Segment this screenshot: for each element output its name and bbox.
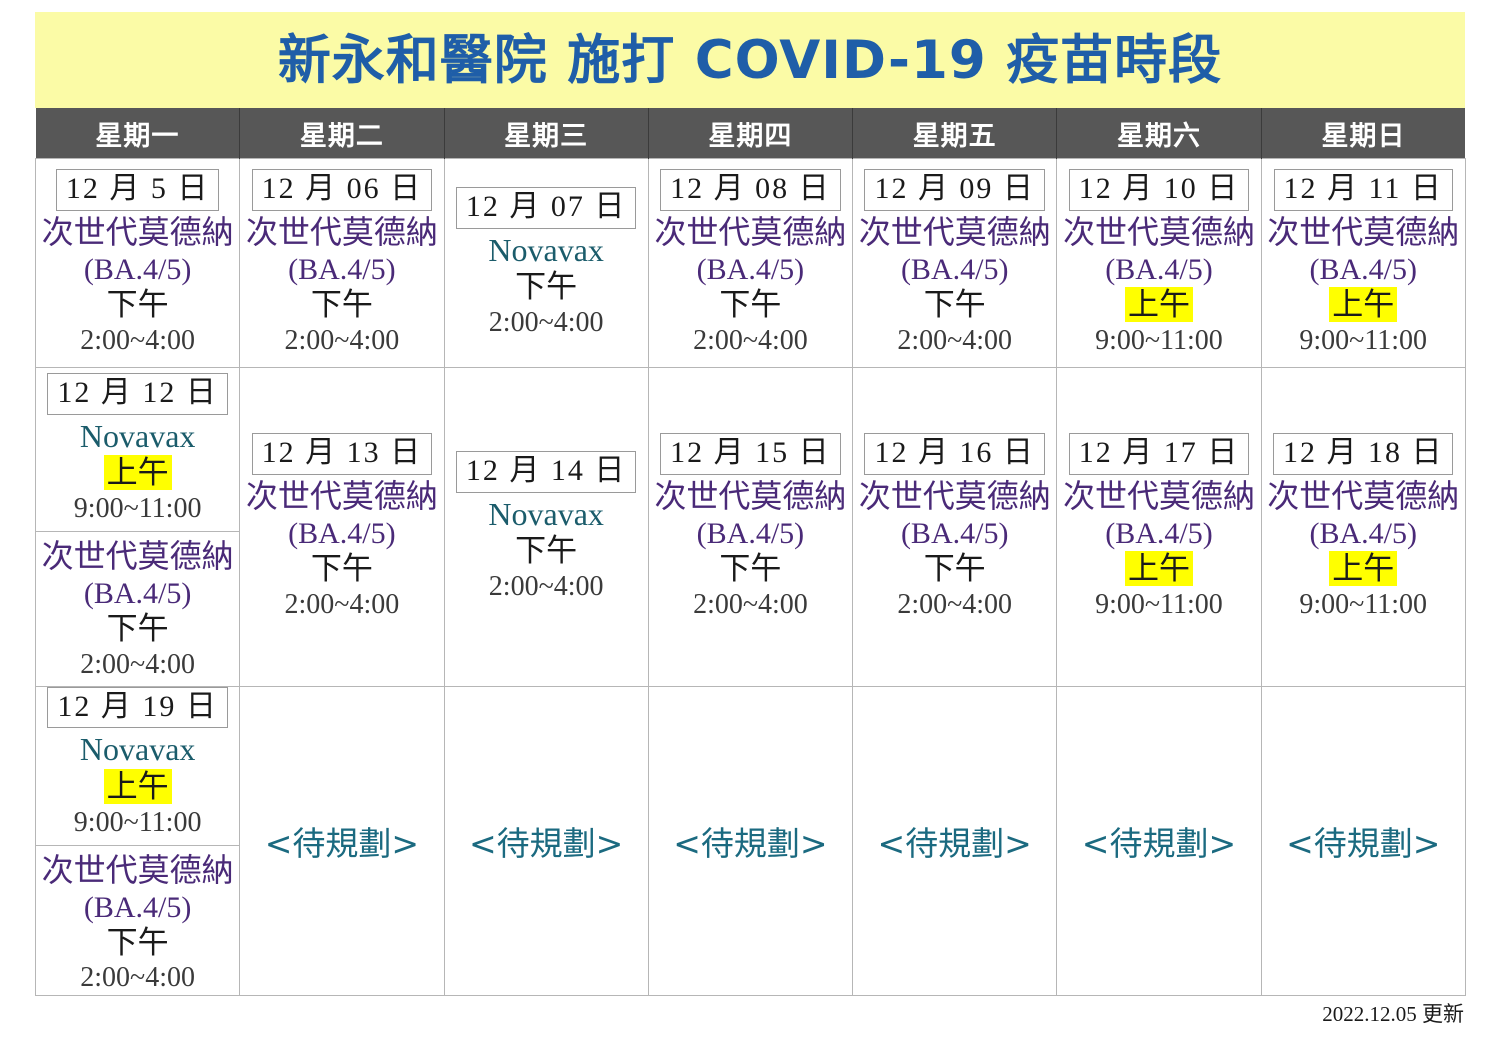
weekday-header-tuesday: 星期二: [240, 108, 444, 159]
schedule-entry: 12 月 18 日次世代莫德納(BA.4/5)上午9:00~11:00: [1262, 433, 1465, 620]
cell-content: 12 月 13 日次世代莫德納(BA.4/5)下午2:00~4:00: [240, 368, 443, 686]
schedule-cell-thursday: 12 月 15 日次世代莫德納(BA.4/5)下午2:00~4:00: [648, 368, 852, 687]
date-badge: 12 月 09 日: [864, 169, 1045, 210]
weekday-header-monday: 星期一: [36, 108, 240, 159]
schedule-cell-thursday: 12 月 08 日次世代莫德納(BA.4/5)下午2:00~4:00: [648, 159, 852, 368]
vaccination-schedule-page: 新永和醫院 施打 COVID-19 疫苗時段 星期一 星期二 星期三 星期四 星…: [0, 0, 1500, 1060]
vaccine-name: 次世代莫德納: [42, 852, 234, 890]
vaccine-name: 次世代莫德納: [246, 478, 438, 516]
schedule-cell-tuesday: 12 月 13 日次世代莫德納(BA.4/5)下午2:00~4:00: [240, 368, 444, 687]
last-updated-note: 2022.12.05 更新: [1322, 998, 1464, 1028]
time-range: 2:00~4:00: [897, 588, 1012, 621]
vaccine-variant: (BA.4/5): [1105, 252, 1213, 287]
period-label: 下午: [924, 551, 986, 586]
schedule-cell-tuesday: 12 月 06 日次世代莫德納(BA.4/5)下午2:00~4:00: [240, 159, 444, 368]
period-label: 下午: [719, 551, 781, 586]
schedule-entry: 12 月 19 日Novavax上午9:00~11:00: [36, 687, 239, 846]
period-label: 下午: [719, 287, 781, 322]
date-badge: 12 月 5 日: [56, 169, 220, 210]
schedule-cell-saturday: <待規劃>: [1057, 687, 1261, 996]
schedule-entry: 12 月 08 日次世代莫德納(BA.4/5)下午2:00~4:00: [649, 169, 852, 356]
cell-content: 12 月 17 日次世代莫德納(BA.4/5)上午9:00~11:00: [1057, 368, 1260, 686]
schedule-entry: 12 月 11 日次世代莫德納(BA.4/5)上午9:00~11:00: [1262, 169, 1465, 356]
time-range: 2:00~4:00: [489, 570, 604, 603]
cell-content: 12 月 18 日次世代莫德納(BA.4/5)上午9:00~11:00: [1262, 368, 1465, 686]
date-badge: 12 月 14 日: [456, 451, 637, 492]
period-label: 下午: [311, 551, 373, 586]
date-badge: 12 月 11 日: [1274, 169, 1453, 210]
vaccine-variant: (BA.4/5): [84, 252, 192, 287]
cell-content: 12 月 5 日次世代莫德納(BA.4/5)下午2:00~4:00: [36, 159, 239, 367]
schedule-entry: 次世代莫德納(BA.4/5)下午2:00~4:00: [36, 846, 239, 995]
schedule-cell-sunday: 12 月 11 日次世代莫德納(BA.4/5)上午9:00~11:00: [1261, 159, 1465, 368]
table-body: 12 月 5 日次世代莫德納(BA.4/5)下午2:00~4:0012 月 06…: [36, 159, 1466, 996]
schedule-cell-wednesday: 12 月 14 日Novavax下午2:00~4:00: [444, 368, 648, 687]
cell-content: 12 月 19 日Novavax上午9:00~11:00次世代莫德納(BA.4/…: [36, 687, 239, 995]
time-range: 9:00~11:00: [1095, 588, 1223, 621]
cell-content: 12 月 09 日次世代莫德納(BA.4/5)下午2:00~4:00: [853, 159, 1056, 367]
time-range: 9:00~11:00: [1299, 324, 1427, 357]
vaccine-variant: (BA.4/5): [901, 252, 1009, 287]
title-banner: 新永和醫院 施打 COVID-19 疫苗時段: [35, 12, 1465, 108]
schedule-entry: 次世代莫德納(BA.4/5)下午2:00~4:00: [36, 532, 239, 681]
cell-content: 12 月 16 日次世代莫德納(BA.4/5)下午2:00~4:00: [853, 368, 1056, 686]
schedule-entry: 12 月 07 日Novavax下午2:00~4:00: [445, 187, 648, 339]
tbd-label: <待規劃>: [1057, 817, 1260, 865]
time-range: 2:00~4:00: [897, 324, 1012, 357]
vaccine-name: 次世代莫德納: [1063, 214, 1255, 252]
tbd-label: <待規劃>: [853, 817, 1056, 865]
schedule-cell-friday: 12 月 16 日次世代莫德納(BA.4/5)下午2:00~4:00: [853, 368, 1057, 687]
cell-content: 12 月 12 日Novavax上午9:00~11:00次世代莫德納(BA.4/…: [36, 368, 239, 686]
tbd-label: <待規劃>: [649, 817, 852, 865]
vaccination-schedule-table: 星期一 星期二 星期三 星期四 星期五 星期六 星期日 12 月 5 日次世代莫…: [35, 108, 1466, 996]
vaccine-variant: (BA.4/5): [84, 576, 192, 611]
vaccine-name: Novavax: [488, 232, 604, 270]
schedule-entry: 12 月 5 日次世代莫德納(BA.4/5)下午2:00~4:00: [36, 169, 239, 356]
tbd-label: <待規劃>: [445, 817, 648, 865]
schedule-entry: 12 月 16 日次世代莫德納(BA.4/5)下午2:00~4:00: [853, 433, 1056, 620]
schedule-entry: 12 月 09 日次世代莫德納(BA.4/5)下午2:00~4:00: [853, 169, 1056, 356]
time-range: 2:00~4:00: [285, 324, 400, 357]
time-range: 2:00~4:00: [80, 324, 195, 357]
vaccine-name: 次世代莫德納: [859, 478, 1051, 516]
period-label-highlighted: 上午: [1329, 287, 1397, 322]
schedule-cell-monday: 12 月 19 日Novavax上午9:00~11:00次世代莫德納(BA.4/…: [36, 687, 240, 996]
vaccine-name: 次世代莫德納: [654, 478, 846, 516]
vaccine-name: 次世代莫德納: [246, 214, 438, 252]
schedule-entry: 12 月 06 日次世代莫德納(BA.4/5)下午2:00~4:00: [240, 169, 443, 356]
period-label: 下午: [107, 287, 169, 322]
schedule-cell-wednesday: <待規劃>: [444, 687, 648, 996]
period-label-highlighted: 上午: [1329, 551, 1397, 586]
schedule-cell-monday: 12 月 12 日Novavax上午9:00~11:00次世代莫德納(BA.4/…: [36, 368, 240, 687]
period-label-highlighted: 上午: [104, 769, 172, 804]
schedule-entry: 12 月 15 日次世代莫德納(BA.4/5)下午2:00~4:00: [649, 433, 852, 620]
date-badge: 12 月 15 日: [660, 433, 841, 474]
period-label-highlighted: 上午: [1125, 287, 1193, 322]
vaccine-variant: (BA.4/5): [697, 252, 805, 287]
week-row: 12 月 5 日次世代莫德納(BA.4/5)下午2:00~4:0012 月 06…: [36, 159, 1466, 368]
page-title: 新永和醫院 施打 COVID-19 疫苗時段: [278, 34, 1222, 87]
time-range: 9:00~11:00: [74, 806, 202, 839]
time-range: 9:00~11:00: [1299, 588, 1427, 621]
vaccine-name: 次世代莫德納: [42, 214, 234, 252]
schedule-cell-sunday: 12 月 18 日次世代莫德納(BA.4/5)上午9:00~11:00: [1261, 368, 1465, 687]
period-label-highlighted: 上午: [1125, 551, 1193, 586]
period-label: 下午: [515, 269, 577, 304]
table-header: 星期一 星期二 星期三 星期四 星期五 星期六 星期日: [36, 108, 1466, 159]
schedule-cell-saturday: 12 月 17 日次世代莫德納(BA.4/5)上午9:00~11:00: [1057, 368, 1261, 687]
vaccine-variant: (BA.4/5): [1105, 516, 1213, 551]
vaccine-variant: (BA.4/5): [697, 516, 805, 551]
time-range: 2:00~4:00: [80, 961, 195, 994]
period-label: 下午: [107, 925, 169, 960]
vaccine-name: Novavax: [80, 418, 196, 456]
schedule-cell-friday: <待規劃>: [853, 687, 1057, 996]
schedule-entry: 12 月 12 日Novavax上午9:00~11:00: [36, 373, 239, 532]
cell-content: 12 月 07 日Novavax下午2:00~4:00: [445, 159, 648, 367]
cell-content: 12 月 06 日次世代莫德納(BA.4/5)下午2:00~4:00: [240, 159, 443, 367]
date-badge: 12 月 12 日: [47, 373, 228, 414]
date-badge: 12 月 07 日: [456, 187, 637, 228]
date-badge: 12 月 16 日: [864, 433, 1045, 474]
schedule-cell-friday: 12 月 09 日次世代莫德納(BA.4/5)下午2:00~4:00: [853, 159, 1057, 368]
vaccine-variant: (BA.4/5): [288, 516, 396, 551]
vaccine-variant: (BA.4/5): [84, 890, 192, 925]
period-label: 下午: [311, 287, 373, 322]
time-range: 2:00~4:00: [80, 648, 195, 681]
period-label: 下午: [924, 287, 986, 322]
schedule-cell-wednesday: 12 月 07 日Novavax下午2:00~4:00: [444, 159, 648, 368]
period-label-highlighted: 上午: [104, 455, 172, 490]
schedule-cell-tuesday: <待規劃>: [240, 687, 444, 996]
vaccine-variant: (BA.4/5): [288, 252, 396, 287]
cell-content: 12 月 11 日次世代莫德納(BA.4/5)上午9:00~11:00: [1262, 159, 1465, 367]
vaccine-name: 次世代莫德納: [859, 214, 1051, 252]
schedule-entry: 12 月 10 日次世代莫德納(BA.4/5)上午9:00~11:00: [1057, 169, 1260, 356]
time-range: 2:00~4:00: [285, 588, 400, 621]
weekday-header-friday: 星期五: [853, 108, 1057, 159]
time-range: 9:00~11:00: [74, 492, 202, 525]
tbd-label: <待規劃>: [240, 817, 443, 865]
schedule-cell-monday: 12 月 5 日次世代莫德納(BA.4/5)下午2:00~4:00: [36, 159, 240, 368]
date-badge: 12 月 08 日: [660, 169, 841, 210]
vaccine-name: 次世代莫德納: [654, 214, 846, 252]
schedule-cell-thursday: <待規劃>: [648, 687, 852, 996]
weekday-header-saturday: 星期六: [1057, 108, 1261, 159]
vaccine-variant: (BA.4/5): [1309, 252, 1417, 287]
vaccine-variant: (BA.4/5): [1309, 516, 1417, 551]
week-row: 12 月 12 日Novavax上午9:00~11:00次世代莫德納(BA.4/…: [36, 368, 1466, 687]
time-range: 2:00~4:00: [693, 324, 808, 357]
schedule-cell-saturday: 12 月 10 日次世代莫德納(BA.4/5)上午9:00~11:00: [1057, 159, 1261, 368]
weekday-header-row: 星期一 星期二 星期三 星期四 星期五 星期六 星期日: [36, 108, 1466, 159]
period-label: 下午: [107, 611, 169, 646]
weekday-header-sunday: 星期日: [1261, 108, 1465, 159]
date-badge: 12 月 06 日: [252, 169, 433, 210]
schedule-entry: 12 月 13 日次世代莫德納(BA.4/5)下午2:00~4:00: [240, 433, 443, 620]
cell-content: 12 月 15 日次世代莫德納(BA.4/5)下午2:00~4:00: [649, 368, 852, 686]
period-label: 下午: [515, 533, 577, 568]
vaccine-name: Novavax: [488, 496, 604, 534]
vaccine-name: 次世代莫德納: [42, 538, 234, 576]
date-badge: 12 月 13 日: [252, 433, 433, 474]
date-badge: 12 月 17 日: [1069, 433, 1250, 474]
vaccine-name: Novavax: [80, 731, 196, 769]
vaccine-name: 次世代莫德納: [1267, 478, 1459, 516]
vaccine-name: 次世代莫德納: [1063, 478, 1255, 516]
cell-content: 12 月 14 日Novavax下午2:00~4:00: [445, 368, 648, 686]
schedule-entry: 12 月 14 日Novavax下午2:00~4:00: [445, 451, 648, 603]
cell-content: 12 月 10 日次世代莫德納(BA.4/5)上午9:00~11:00: [1057, 159, 1260, 367]
date-badge: 12 月 18 日: [1273, 433, 1454, 474]
schedule-cell-sunday: <待規劃>: [1261, 687, 1465, 996]
vaccine-name: 次世代莫德納: [1267, 214, 1459, 252]
time-range: 2:00~4:00: [693, 588, 808, 621]
date-badge: 12 月 19 日: [47, 687, 228, 728]
schedule-entry: 12 月 17 日次世代莫德納(BA.4/5)上午9:00~11:00: [1057, 433, 1260, 620]
date-badge: 12 月 10 日: [1069, 169, 1250, 210]
tbd-label: <待規劃>: [1262, 817, 1465, 865]
weekday-header-thursday: 星期四: [648, 108, 852, 159]
vaccine-variant: (BA.4/5): [901, 516, 1009, 551]
time-range: 2:00~4:00: [489, 306, 604, 339]
cell-content: 12 月 08 日次世代莫德納(BA.4/5)下午2:00~4:00: [649, 159, 852, 367]
week-row: 12 月 19 日Novavax上午9:00~11:00次世代莫德納(BA.4/…: [36, 687, 1466, 996]
time-range: 9:00~11:00: [1095, 324, 1223, 357]
weekday-header-wednesday: 星期三: [444, 108, 648, 159]
